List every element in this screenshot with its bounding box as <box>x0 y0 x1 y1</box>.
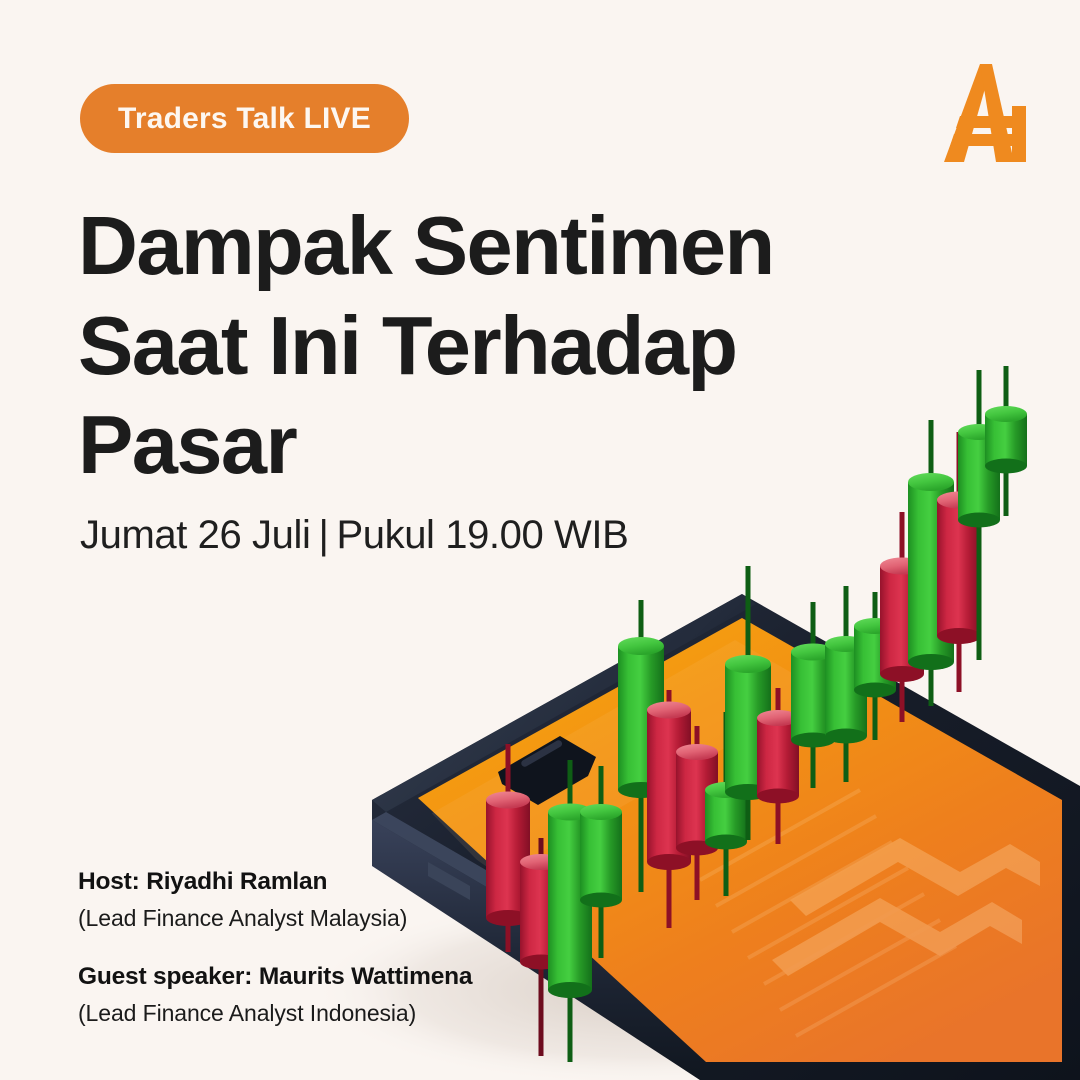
host-credit: Host: Riyadhi Ramlan (Lead Finance Analy… <box>78 866 598 935</box>
headline-line-2: Saat Ini Terhadap <box>78 296 838 396</box>
guest-role: (Lead Finance Analyst Indonesia) <box>78 997 598 1030</box>
guest-name: Guest speaker: Maurits Wattimena <box>78 961 598 993</box>
guest-credit: Guest speaker: Maurits Wattimena (Lead F… <box>78 961 598 1030</box>
event-schedule: Jumat 26 Juli|Pukul 19.00 WIB <box>80 513 628 558</box>
schedule-separator: | <box>310 513 336 557</box>
live-badge-label: Traders Talk LIVE <box>118 102 371 136</box>
octa-a-logo-icon <box>944 64 1026 162</box>
event-date: Jumat 26 Juli <box>80 513 310 557</box>
host-name: Host: Riyadhi Ramlan <box>78 866 598 898</box>
live-badge: Traders Talk LIVE <box>80 84 409 153</box>
poster-content: Traders Talk LIVE Dampak Sentimen Saat I… <box>0 0 1080 1080</box>
speaker-credits: Host: Riyadhi Ramlan (Lead Finance Analy… <box>78 866 598 1030</box>
headline-line-1: Dampak Sentimen <box>78 196 838 296</box>
promo-poster: Traders Talk LIVE Dampak Sentimen Saat I… <box>0 0 1080 1080</box>
host-role: (Lead Finance Analyst Malaysia) <box>78 902 598 935</box>
event-time: Pukul 19.00 WIB <box>336 513 628 557</box>
headline-line-3: Pasar <box>78 395 838 495</box>
brand-logo <box>934 58 1038 168</box>
page-title: Dampak Sentimen Saat Ini Terhadap Pasar <box>78 196 838 495</box>
